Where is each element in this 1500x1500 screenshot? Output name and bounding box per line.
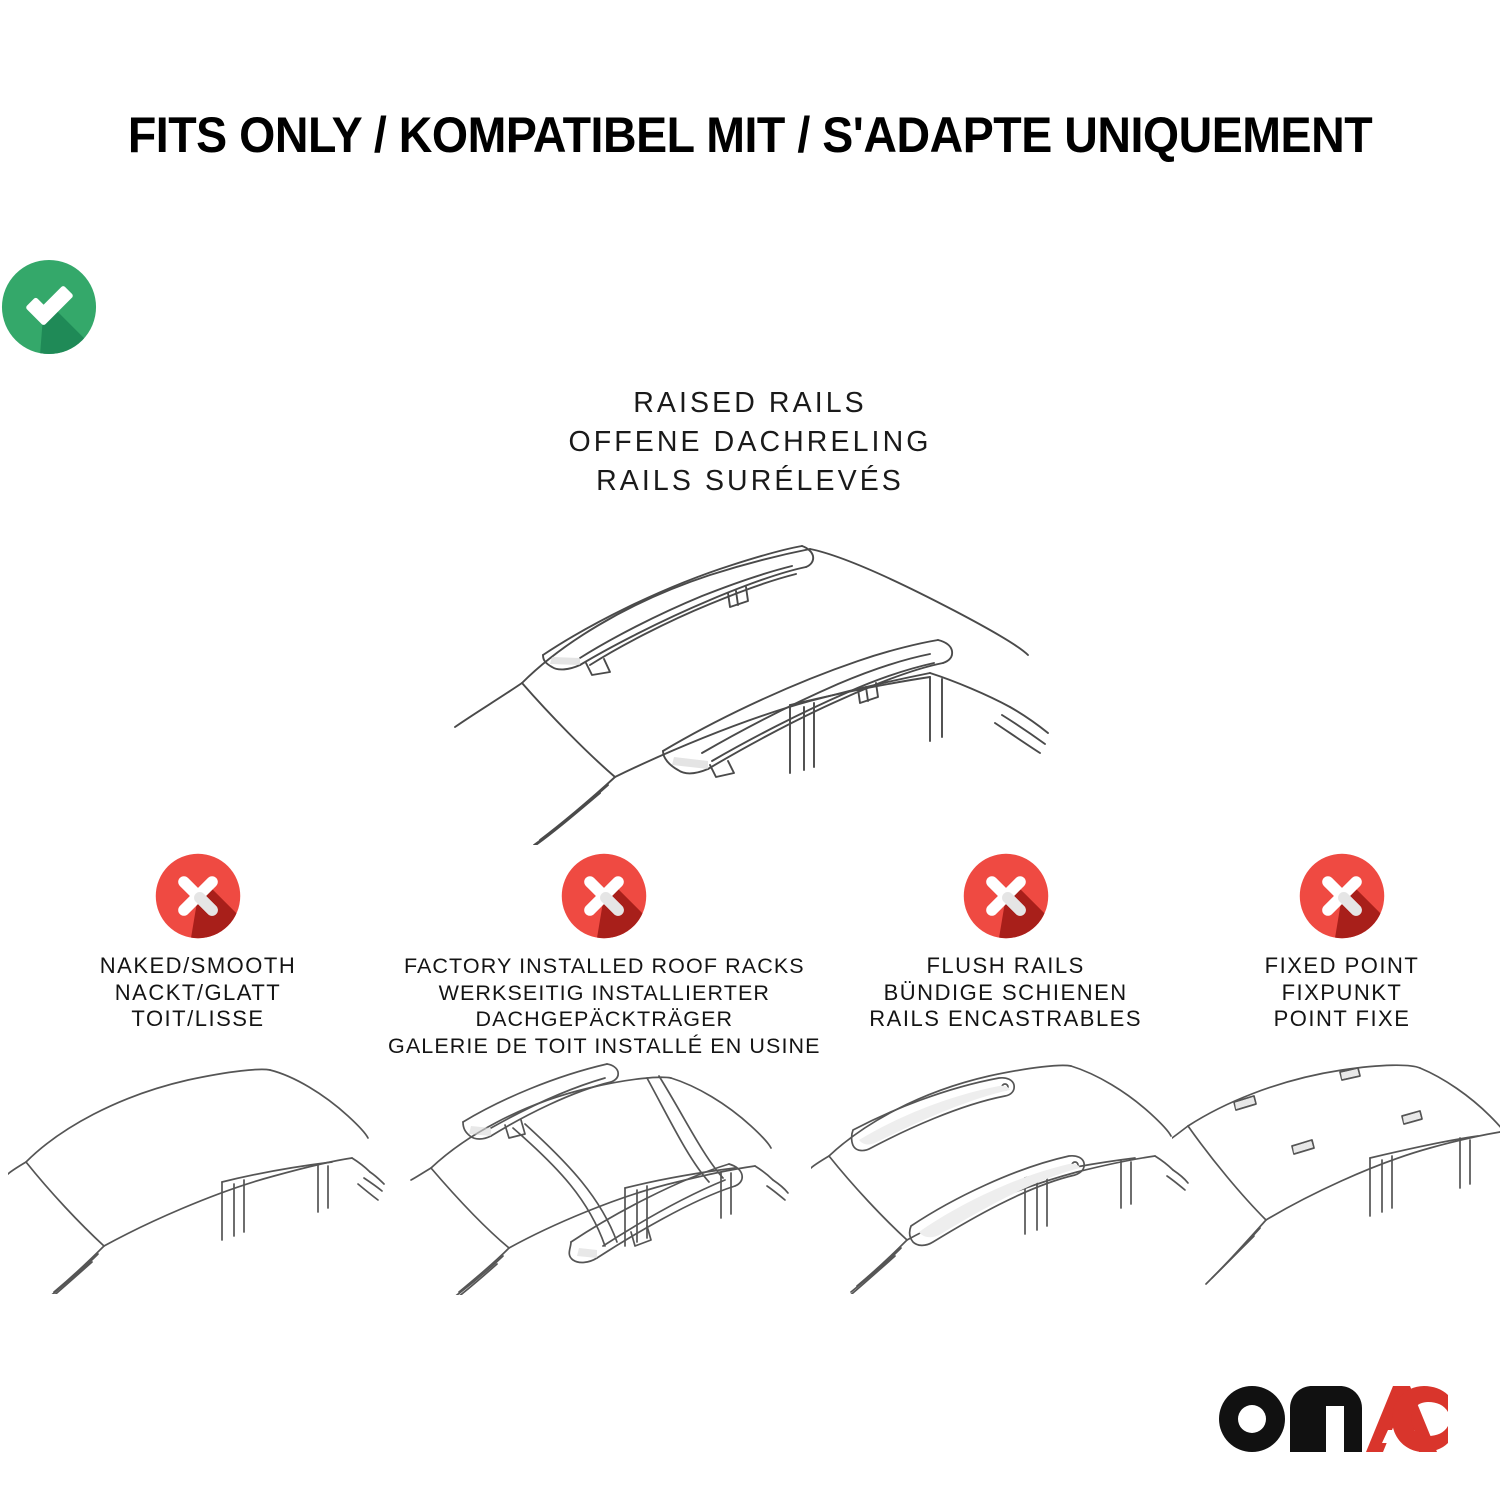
page-title: FITS ONLY / KOMPATIBEL MIT / S'ADAPTE UN… (53, 106, 1448, 164)
compatible-label-en: RAISED RAILS (0, 384, 1500, 423)
omac-logo (1216, 1386, 1448, 1452)
x-circle-icon (1298, 852, 1386, 940)
label-fr: TOIT/LISSE (100, 1006, 296, 1033)
car-roof-factory-racks-illustration (409, 1060, 799, 1295)
x-circle-icon (560, 852, 648, 940)
car-roof-naked-smooth-illustration (8, 1064, 388, 1294)
compatible-label-fr: RAILS SURÉLEVÉS (0, 462, 1500, 501)
fitment-info-page: FITS ONLY / KOMPATIBEL MIT / S'ADAPTE UN… (0, 0, 1500, 1500)
label-fr: RAILS ENCASTRABLES (869, 1006, 1142, 1033)
label-en: FACTORY INSTALLED ROOF RACKS (388, 953, 821, 980)
incompatible-labels: FACTORY INSTALLED ROOF RACKS WERKSEITIG … (388, 953, 821, 1059)
incompatible-item-flush-rails: FLUSH RAILS BÜNDIGE SCHIENEN RAILS ENCAS… (821, 852, 1191, 1033)
incompatible-labels: FLUSH RAILS BÜNDIGE SCHIENEN RAILS ENCAS… (869, 953, 1142, 1033)
label-en: FIXED POINT (1265, 953, 1420, 980)
compatible-labels: RAISED RAILS OFFENE DACHRELING RAILS SUR… (0, 384, 1500, 501)
incompatible-labels: NAKED/SMOOTH NACKT/GLATT TOIT/LISSE (100, 953, 296, 1033)
check-circle-icon (0, 258, 1500, 356)
incompatible-columns: NAKED/SMOOTH NACKT/GLATT TOIT/LISSE (0, 852, 1500, 1059)
compatible-section: RAISED RAILS OFFENE DACHRELING RAILS SUR… (0, 258, 1500, 501)
incompatible-item-factory-racks: FACTORY INSTALLED ROOF RACKS WERKSEITIG … (389, 852, 819, 1059)
compatible-label-de: OFFENE DACHRELING (0, 423, 1500, 462)
label-en: FLUSH RAILS (869, 953, 1142, 980)
label-de: NACKT/GLATT (100, 980, 296, 1007)
label-de-1: WERKSEITIG INSTALLIERTER (388, 980, 821, 1007)
incompatible-item-naked-smooth: NAKED/SMOOTH NACKT/GLATT TOIT/LISSE (8, 852, 388, 1033)
label-fr: POINT FIXE (1265, 1006, 1420, 1033)
x-circle-icon (154, 852, 242, 940)
incompatible-item-fixed-point: FIXED POINT FIXPUNKT POINT FIXE (1192, 852, 1492, 1033)
label-en: NAKED/SMOOTH (100, 953, 296, 980)
label-fr: GALERIE DE TOIT INSTALLÉ EN USINE (388, 1033, 821, 1060)
label-de-2: DACHGEPÄCKTRÄGER (388, 1006, 821, 1033)
label-de: BÜNDIGE SCHIENEN (869, 980, 1142, 1007)
label-de: FIXPUNKT (1265, 980, 1420, 1007)
car-roof-flush-rails-illustration (811, 1064, 1201, 1294)
incompatible-labels: FIXED POINT FIXPUNKT POINT FIXE (1265, 953, 1420, 1033)
x-circle-icon (962, 852, 1050, 940)
car-roof-fixed-point-illustration (1172, 1064, 1500, 1294)
car-roof-raised-rails-illustration (410, 515, 1090, 845)
